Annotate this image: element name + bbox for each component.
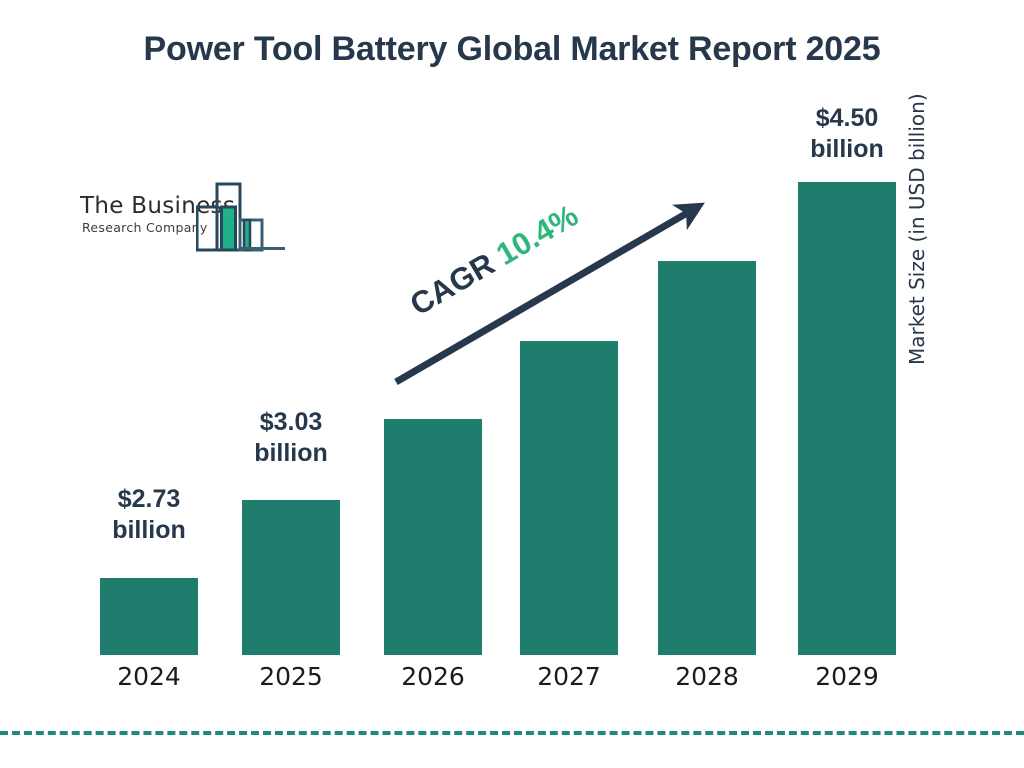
x-tick-2024: 2024: [100, 662, 198, 691]
chart-canvas: Power Tool Battery Global Market Report …: [0, 0, 1024, 768]
bar-value-unit-2025: billion: [212, 438, 370, 469]
bar-2028[interactable]: [658, 261, 756, 655]
x-tick-2026: 2026: [384, 662, 482, 691]
bar-value-label-2025: $3.03 billion: [212, 407, 370, 468]
x-tick-2028: 2028: [658, 662, 756, 691]
x-tick-2029: 2029: [798, 662, 896, 691]
x-tick-2027: 2027: [520, 662, 618, 691]
bar-2025[interactable]: [242, 500, 340, 655]
bar-2027[interactable]: [520, 341, 618, 655]
bar-value-unit-2024: billion: [70, 515, 228, 546]
x-tick-2025: 2025: [242, 662, 340, 691]
bar-value-amount-2024: $2.73: [70, 484, 228, 515]
bar-value-amount-2025: $3.03: [212, 407, 370, 438]
bar-2024[interactable]: [100, 578, 198, 655]
bar-2029[interactable]: [798, 182, 896, 655]
bar-value-label-2024: $2.73 billion: [70, 484, 228, 545]
bar-value-amount-2029: $4.50: [768, 103, 926, 134]
y-axis-title: Market Size (in USD billion): [905, 25, 929, 365]
bar-value-label-2029: $4.50 billion: [768, 103, 926, 164]
plot-area: $2.73 billion $3.03 billion $4.50 billio…: [0, 0, 1024, 768]
bar-value-unit-2029: billion: [768, 134, 926, 165]
footer-divider: [0, 731, 1024, 735]
bar-2026[interactable]: [384, 419, 482, 655]
